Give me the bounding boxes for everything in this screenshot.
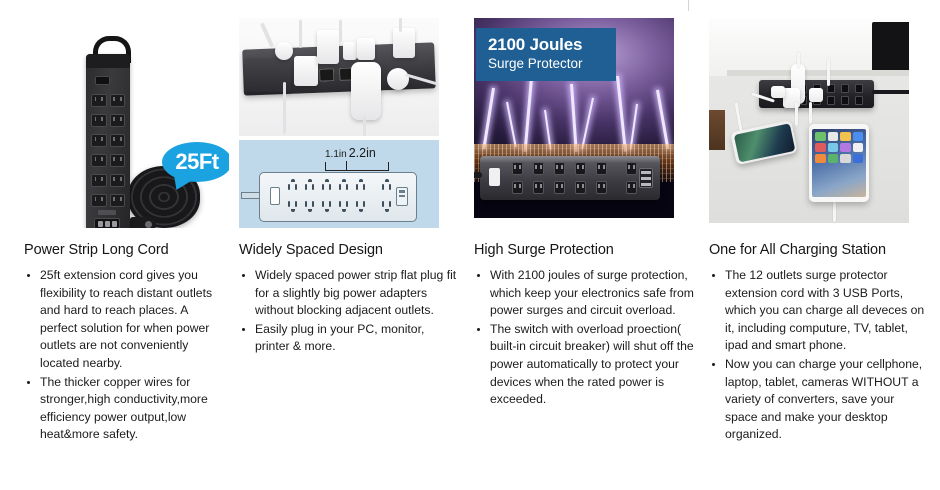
- brand-logo-mark: [98, 210, 116, 215]
- app-icon: [815, 154, 826, 163]
- power-strip-body: [86, 54, 130, 228]
- app-icon: [828, 154, 839, 163]
- usb-wall-adapter: [294, 56, 318, 86]
- usb-port: [399, 190, 406, 193]
- outlet: [626, 162, 637, 175]
- outlet: [575, 162, 586, 175]
- app-icon: [828, 143, 839, 152]
- power-strip-diagram-body: [259, 172, 417, 222]
- lightning-bolt: [630, 104, 638, 150]
- feature-column-one-for-all-charging-station: One for All Charging Station The 12 outl…: [705, 18, 940, 490]
- list-item: Easily plug in your PC, monitor, printer…: [239, 321, 460, 356]
- outlet: [288, 179, 297, 190]
- wood-floor: [709, 110, 725, 150]
- app-icon: [840, 132, 851, 141]
- cable: [795, 102, 798, 126]
- wall-plug: [130, 217, 156, 228]
- outlet: [91, 154, 107, 167]
- desk-charging-scene: [709, 18, 909, 223]
- outlet: [855, 96, 863, 105]
- feature-heading-2: Widely Spaced Design: [239, 242, 460, 259]
- app-icon: [840, 154, 851, 163]
- plug-head: [809, 88, 823, 102]
- usb-port: [98, 221, 103, 227]
- feature-columns-grid: 25Ft Power Strip Long Cord 25ft extensio…: [0, 0, 940, 490]
- cable: [797, 52, 800, 68]
- list-item: 25ft extension cord gives you flexibilit…: [24, 267, 225, 373]
- white-adapter: [317, 30, 339, 64]
- cord: [474, 172, 482, 178]
- round-plug: [275, 42, 293, 60]
- outlet: [322, 179, 331, 190]
- outlet: [110, 194, 126, 207]
- usb-port-group: [396, 187, 408, 206]
- outlet: [322, 201, 331, 212]
- usb-port: [641, 183, 651, 186]
- outlet: [382, 179, 391, 190]
- outlet: [339, 201, 348, 212]
- outlet: [110, 94, 126, 107]
- outlet: [305, 179, 314, 190]
- outlet: [110, 114, 126, 127]
- outlet: [91, 114, 107, 127]
- plug-head: [771, 86, 785, 98]
- app-icon: [853, 143, 864, 152]
- outlet: [91, 94, 107, 107]
- outlet: [554, 181, 565, 194]
- outlet: [288, 201, 297, 212]
- feature-bullets-3: With 2100 joules of surge protection, wh…: [474, 267, 695, 410]
- outlet: [305, 201, 314, 212]
- laptop-power-brick: [351, 62, 381, 120]
- outlet: [841, 96, 849, 105]
- power-strip-illustration: 25Ft: [24, 18, 229, 228]
- lightning-storm-scene: 2100 Joules Surge Protector: [474, 18, 674, 218]
- usb-port: [641, 177, 651, 180]
- power-switch: [270, 187, 280, 205]
- dimension-bracket: [325, 162, 389, 171]
- outlet: [356, 179, 365, 190]
- list-item: With 2100 joules of surge protection, wh…: [474, 267, 695, 320]
- app-icon: [828, 132, 839, 141]
- outlet: [91, 174, 107, 187]
- list-item: Now you can charge your cellphone, lapto…: [709, 356, 930, 444]
- cable: [827, 58, 830, 86]
- outlet: [533, 162, 544, 175]
- outlet: [110, 134, 126, 147]
- outlet: [596, 162, 607, 175]
- power-switch: [95, 76, 110, 85]
- badge-joules-label: 2100 Joules: [488, 35, 606, 55]
- feature-heading-3: High Surge Protection: [474, 242, 695, 259]
- outlet-group: [91, 94, 125, 207]
- app-icon: [815, 143, 826, 152]
- white-adapter: [393, 28, 415, 58]
- list-item: The thicker copper wires for stronger,hi…: [24, 374, 225, 444]
- lightning-bolt: [506, 102, 517, 148]
- outlet: [512, 162, 523, 175]
- surge-rating-badge: 2100 Joules Surge Protector: [476, 28, 616, 81]
- outlet: [841, 84, 849, 93]
- feature-column-widely-spaced-design: 1.1in 2.2in: [235, 18, 470, 490]
- outlet: [575, 181, 586, 194]
- dimension-labels: 1.1in 2.2in: [325, 146, 376, 160]
- list-item: The switch with overload proection( buil…: [474, 321, 695, 409]
- cable: [363, 116, 366, 136]
- outlet: [339, 179, 348, 190]
- product-image-charging-station: [709, 18, 909, 228]
- callout-bubble-25ft: 25Ft: [162, 142, 229, 182]
- monitor: [872, 22, 909, 74]
- outlet: [356, 201, 365, 212]
- dimension-large-label: 2.2in: [349, 146, 376, 160]
- cable: [283, 82, 286, 134]
- dimension-small-label: 1.1in: [325, 149, 347, 160]
- product-image-high-surge-protection: 2100 Joules Surge Protector: [474, 18, 674, 228]
- adapters-photo: [239, 18, 439, 136]
- feature-column-power-strip-long-cord: 25Ft Power Strip Long Cord 25ft extensio…: [0, 18, 235, 490]
- feature-heading-4: One for All Charging Station: [709, 242, 930, 259]
- feature-column-high-surge-protection: 2100 Joules Surge Protector: [470, 18, 705, 490]
- outlet: [110, 154, 126, 167]
- feature-heading-1: Power Strip Long Cord: [24, 242, 225, 259]
- small-adapter: [343, 42, 357, 60]
- list-item: The 12 outlets surge protector extension…: [709, 267, 930, 355]
- app-icon: [853, 132, 864, 141]
- product-image-widely-spaced-design: 1.1in 2.2in: [239, 18, 439, 228]
- cord: [872, 90, 909, 94]
- outlet: [110, 174, 126, 187]
- outlet: [554, 162, 565, 175]
- lightning-bolt: [581, 98, 594, 149]
- lightning-bolt: [656, 90, 669, 150]
- small-adapter: [357, 38, 375, 60]
- cable: [399, 18, 402, 32]
- cable: [339, 20, 342, 42]
- outlet: [626, 181, 637, 194]
- usb-port-group: [94, 218, 120, 228]
- tablet: [809, 124, 869, 202]
- outlet: [855, 84, 863, 93]
- outlet: [319, 68, 334, 82]
- feature-bullets-4: The 12 outlets surge protector extension…: [709, 267, 930, 445]
- usb-port: [105, 221, 110, 227]
- outlet: [91, 194, 107, 207]
- usb-port-group: [639, 168, 653, 188]
- power-strip-top-cap: [86, 54, 130, 68]
- outlet: [596, 181, 607, 194]
- spacing-diagram: 1.1in 2.2in: [239, 140, 439, 228]
- lightning-bolt: [524, 78, 533, 152]
- lightning-bolt: [570, 84, 577, 152]
- app-icon: [815, 132, 826, 141]
- app-icon: [840, 143, 851, 152]
- round-adapter: [387, 68, 409, 90]
- cable: [809, 102, 812, 124]
- product-image-power-strip-long-cord: 25Ft: [24, 18, 229, 228]
- usb-port: [399, 195, 406, 198]
- outlet: [382, 201, 391, 212]
- power-switch: [489, 168, 500, 186]
- list-item: Widely spaced power strip flat plug fit …: [239, 267, 460, 320]
- feature-bullets-1: 25ft extension cord gives you flexibilit…: [24, 267, 225, 445]
- tablet-screen: [812, 129, 866, 197]
- power-strip-body: [480, 156, 660, 200]
- lightning-bolt: [616, 76, 626, 152]
- badge-subtitle-label: Surge Protector: [488, 55, 606, 72]
- cable: [833, 200, 836, 222]
- feature-bullets-2: Widely spaced power strip flat plug fit …: [239, 267, 460, 357]
- usb-port: [641, 171, 651, 174]
- outlet: [533, 181, 544, 194]
- cable: [299, 20, 302, 48]
- usb-port: [112, 221, 117, 227]
- cable: [260, 22, 274, 47]
- outlet: [512, 181, 523, 194]
- outlet: [91, 134, 107, 147]
- app-icon: [853, 154, 864, 163]
- outlet: [827, 96, 835, 105]
- lightning-bolt: [482, 88, 494, 150]
